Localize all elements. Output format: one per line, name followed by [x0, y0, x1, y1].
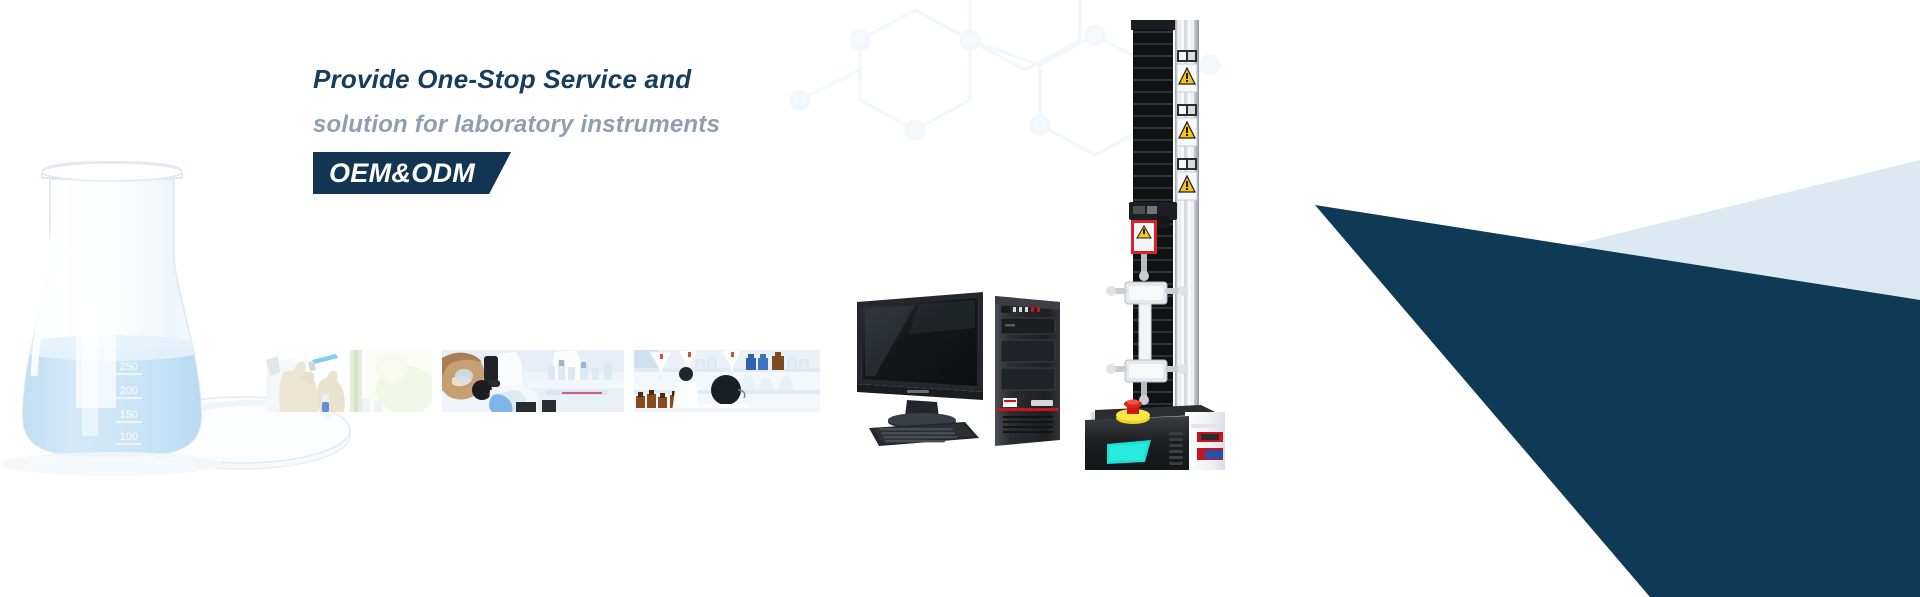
svg-text:100: 100 [120, 431, 138, 443]
headline-line-2: solution for laboratory instruments [313, 102, 933, 148]
pc-tower [995, 296, 1060, 446]
svg-text:150: 150 [120, 409, 138, 421]
keyboard [869, 422, 979, 446]
erlenmeyer-flask: mL 250 200 150 100 [10, 162, 220, 466]
photo-pipetting-gloves [266, 350, 432, 412]
flask-group: mL 250 200 150 100 [0, 118, 392, 478]
universal-tensile-testing-machine [1085, 20, 1300, 470]
svg-text:200: 200 [120, 385, 138, 397]
warning-labels [1177, 50, 1197, 200]
badge-row: OEM&ODM [313, 152, 933, 196]
headline-block: Provide One-Stop Service and solution fo… [313, 56, 933, 196]
headline-line-1: Provide One-Stop Service and [313, 56, 933, 102]
svg-text:mL: mL [123, 327, 138, 339]
monitor [857, 292, 983, 429]
photo-strip [266, 350, 820, 412]
photo-microscope-researcher [442, 350, 624, 412]
promo-banner: Provide One-Stop Service and solution fo… [0, 0, 1920, 597]
desktop-computer [855, 288, 1070, 453]
machine-base [1085, 399, 1225, 470]
photo-lab-technicians [634, 350, 820, 412]
svg-text:250: 250 [120, 361, 138, 373]
